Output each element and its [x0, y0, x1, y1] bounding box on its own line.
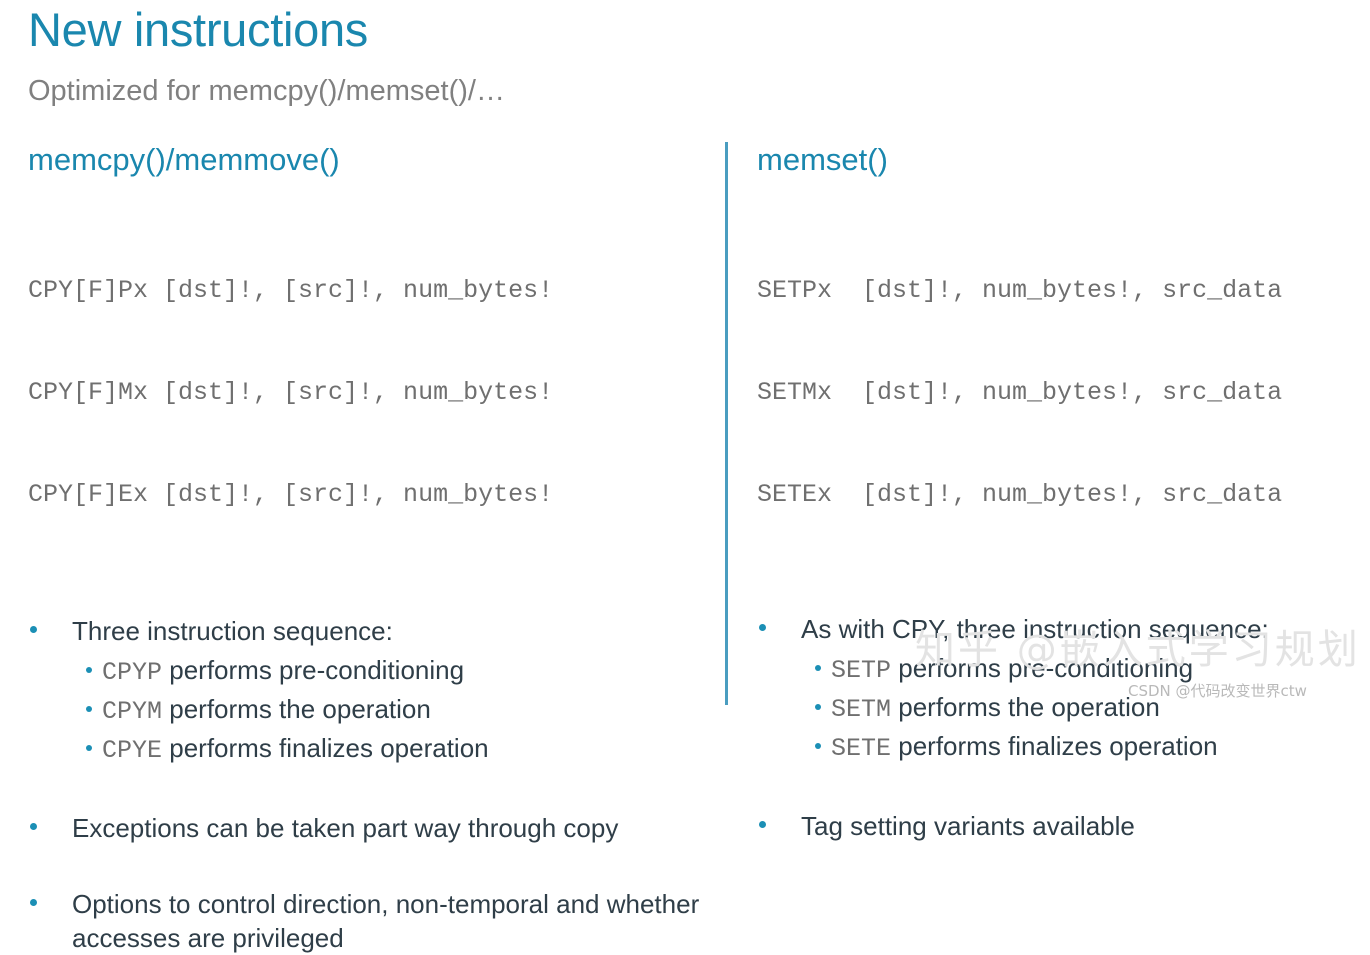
code-line: SETPx [dst]!, num_bytes!, src_data: [757, 274, 1370, 308]
bullet-dot-icon: [30, 823, 37, 830]
bullet-dot-icon: [86, 706, 92, 712]
list-item-label: Tag setting variants available: [801, 811, 1135, 841]
list-item-label: Three instruction sequence:: [72, 616, 393, 646]
column-divider: [725, 142, 728, 705]
code-line: CPY[F]Px [dst]!, [src]!, num_bytes!: [28, 274, 718, 308]
bullet-dot-icon: [30, 626, 37, 633]
list-item: Exceptions can be taken part way through…: [28, 811, 718, 845]
bullet-dot-icon: [86, 745, 92, 751]
code-block-memcpy: CPY[F]Px [dst]!, [src]!, num_bytes! CPY[…: [28, 206, 718, 580]
column-heading-memset: memset(): [757, 140, 1370, 180]
code-line: CPY[F]Mx [dst]!, [src]!, num_bytes!: [28, 376, 718, 410]
list-item: Three instruction sequence:: [28, 614, 718, 648]
watermark-zhihu: 知乎 @嵌入式学习规划: [915, 626, 1361, 674]
list-item: Tag setting variants available: [757, 809, 1370, 843]
instruction-mnemonic: SETM: [831, 695, 891, 724]
list-item: Options to control direction, non-tempor…: [28, 887, 718, 955]
bullet-dot-icon: [815, 665, 821, 671]
list-item-label: Exceptions can be taken part way through…: [72, 813, 618, 843]
column-memcpy: memcpy()/memmove() CPY[F]Px [dst]!, [src…: [28, 140, 718, 955]
list-item-label: performs finalizes operation: [898, 731, 1217, 761]
instruction-mnemonic: CPYE: [102, 736, 162, 765]
page-subtitle: Optimized for memcpy()/memset()/…: [28, 72, 505, 110]
list-item-label: performs pre-conditioning: [169, 655, 464, 685]
watermark-csdn: CSDN @代码改变世界ctw: [1128, 682, 1307, 700]
list-item-label: Options to control direction, non-tempor…: [72, 889, 699, 953]
sub-bullet-list-memcpy: CPYP performs pre-conditioning CPYM perf…: [28, 652, 718, 769]
list-item-label: performs the operation: [898, 692, 1160, 722]
list-item: CPYP performs pre-conditioning: [28, 652, 718, 691]
column-heading-memcpy: memcpy()/memmove(): [28, 140, 718, 180]
list-item-label: performs finalizes operation: [169, 733, 488, 763]
bullet-dot-icon: [30, 899, 37, 906]
instruction-mnemonic: SETE: [831, 734, 891, 763]
instruction-mnemonic: CPYP: [102, 658, 162, 687]
instruction-mnemonic: CPYM: [102, 697, 162, 726]
list-item: CPYE performs finalizes operation: [28, 730, 718, 769]
instruction-mnemonic: SETP: [831, 656, 891, 685]
bullet-dot-icon: [759, 821, 766, 828]
list-item-label: performs the operation: [169, 694, 431, 724]
bullet-dot-icon: [759, 624, 766, 631]
list-item: SETE performs finalizes operation: [757, 728, 1370, 767]
page-title: New instructions: [28, 2, 368, 58]
list-item: CPYM performs the operation: [28, 691, 718, 730]
bullet-list-memcpy: Three instruction sequence: CPYP perform…: [28, 614, 718, 955]
bullet-dot-icon: [86, 667, 92, 673]
bullet-dot-icon: [815, 743, 821, 749]
code-line: CPY[F]Ex [dst]!, [src]!, num_bytes!: [28, 478, 718, 512]
code-block-memset: SETPx [dst]!, num_bytes!, src_data SETMx…: [757, 206, 1370, 580]
code-line: SETMx [dst]!, num_bytes!, src_data: [757, 376, 1370, 410]
code-line: SETEx [dst]!, num_bytes!, src_data: [757, 478, 1370, 512]
column-memset: memset() SETPx [dst]!, num_bytes!, src_d…: [757, 140, 1370, 843]
